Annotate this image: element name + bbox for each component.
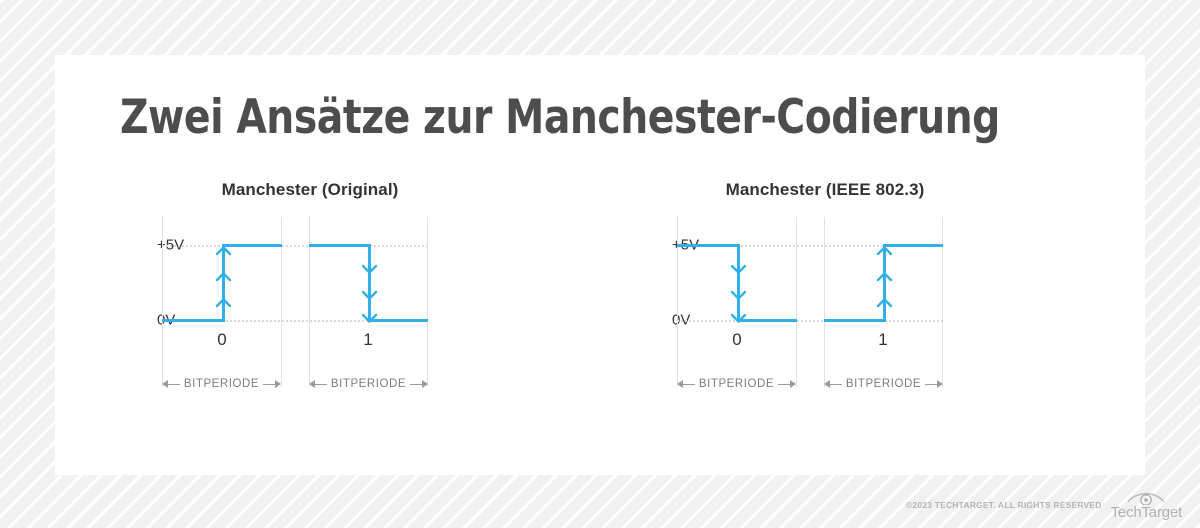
techtarget-logo: TechTarget: [1111, 489, 1182, 520]
bitperiod-label: BITPERIODE: [180, 378, 263, 390]
arrow-right-icon: [422, 380, 428, 388]
wave-bit0-low: [162, 319, 225, 322]
arrow-down-icon: [731, 265, 746, 274]
bit-label: 0: [217, 330, 226, 350]
bitperiod-label: BITPERIODE: [842, 378, 925, 390]
arrow-right-icon: [937, 380, 943, 388]
gridline-high: [162, 245, 428, 247]
bitperiod-annotation: BITPERIODE: [162, 377, 281, 391]
bitperiod-label: BITPERIODE: [327, 378, 410, 390]
arrow-up-icon: [877, 298, 892, 307]
panel-title: Manchester (IEEE 802.3): [615, 180, 1035, 200]
diagram-panels: Manchester (Original) +5V 0V: [55, 55, 1145, 475]
bit-label: 1: [878, 330, 887, 350]
wave-bit1-high: [883, 244, 943, 247]
waveform-plot: +5V 0V: [615, 222, 1035, 422]
panel-manchester-original: Manchester (Original) +5V 0V: [100, 180, 520, 420]
content-card: Zwei Ansätze zur Manchester-Codierung Ma…: [55, 55, 1145, 475]
arrow-left-icon: [677, 380, 683, 388]
bit-label: 1: [363, 330, 372, 350]
gridline-v-1: [796, 217, 797, 387]
arrow-up-icon: [877, 246, 892, 255]
wave-bit0-low: [737, 319, 797, 322]
bitperiod-annotation: BITPERIODE: [824, 377, 943, 391]
wave-bit0-fall: [737, 245, 740, 322]
panel-title: Manchester (Original): [100, 180, 520, 200]
bit-label: 0: [732, 330, 741, 350]
gridline-v-3: [942, 217, 943, 387]
wave-bit1-fall: [368, 245, 371, 322]
arrow-right-icon: [275, 380, 281, 388]
arrow-down-icon: [362, 265, 377, 274]
wave-bit1-rise: [883, 245, 886, 322]
wave-bit0-rise: [222, 245, 225, 322]
gridline-v-3: [427, 217, 428, 387]
waveform-plot: +5V 0V: [100, 222, 520, 422]
wave-bit1-low: [824, 319, 886, 322]
arrow-up-icon: [216, 246, 231, 255]
arrow-left-icon: [309, 380, 315, 388]
wave-bit1-low: [368, 319, 428, 322]
arrow-up-icon: [877, 272, 892, 281]
gridline-v-2: [824, 217, 825, 387]
panel-manchester-ieee8023: Manchester (IEEE 802.3) +5V 0V: [615, 180, 1035, 420]
arrow-up-icon: [216, 298, 231, 307]
arrow-left-icon: [824, 380, 830, 388]
gridline-v-2: [309, 217, 310, 387]
arrow-left-icon: [162, 380, 168, 388]
arrow-down-icon: [362, 291, 377, 300]
arrow-down-icon: [731, 314, 746, 323]
gridline-v-0: [677, 217, 678, 387]
brand-name: TechTarget: [1111, 505, 1182, 520]
arrow-up-icon: [216, 272, 231, 281]
bitperiod-annotation: BITPERIODE: [677, 377, 796, 391]
wave-bit0-high: [222, 244, 282, 247]
arrow-down-icon: [731, 291, 746, 300]
copyright-text: ©2023 TECHTARGET. ALL RIGHTS RESERVED: [906, 500, 1102, 510]
wave-bit0-high: [677, 244, 740, 247]
gridline-v-1: [281, 217, 282, 387]
eye-icon: [1124, 489, 1168, 505]
bitperiod-annotation: BITPERIODE: [309, 377, 428, 391]
wave-bit1-high: [309, 244, 371, 247]
arrow-down-icon: [362, 314, 377, 323]
gridline-low: [677, 320, 943, 322]
arrow-right-icon: [790, 380, 796, 388]
footer: ©2023 TECHTARGET. ALL RIGHTS RESERVED Te…: [906, 489, 1182, 520]
bitperiod-label: BITPERIODE: [695, 378, 778, 390]
gridline-v-0: [162, 217, 163, 387]
